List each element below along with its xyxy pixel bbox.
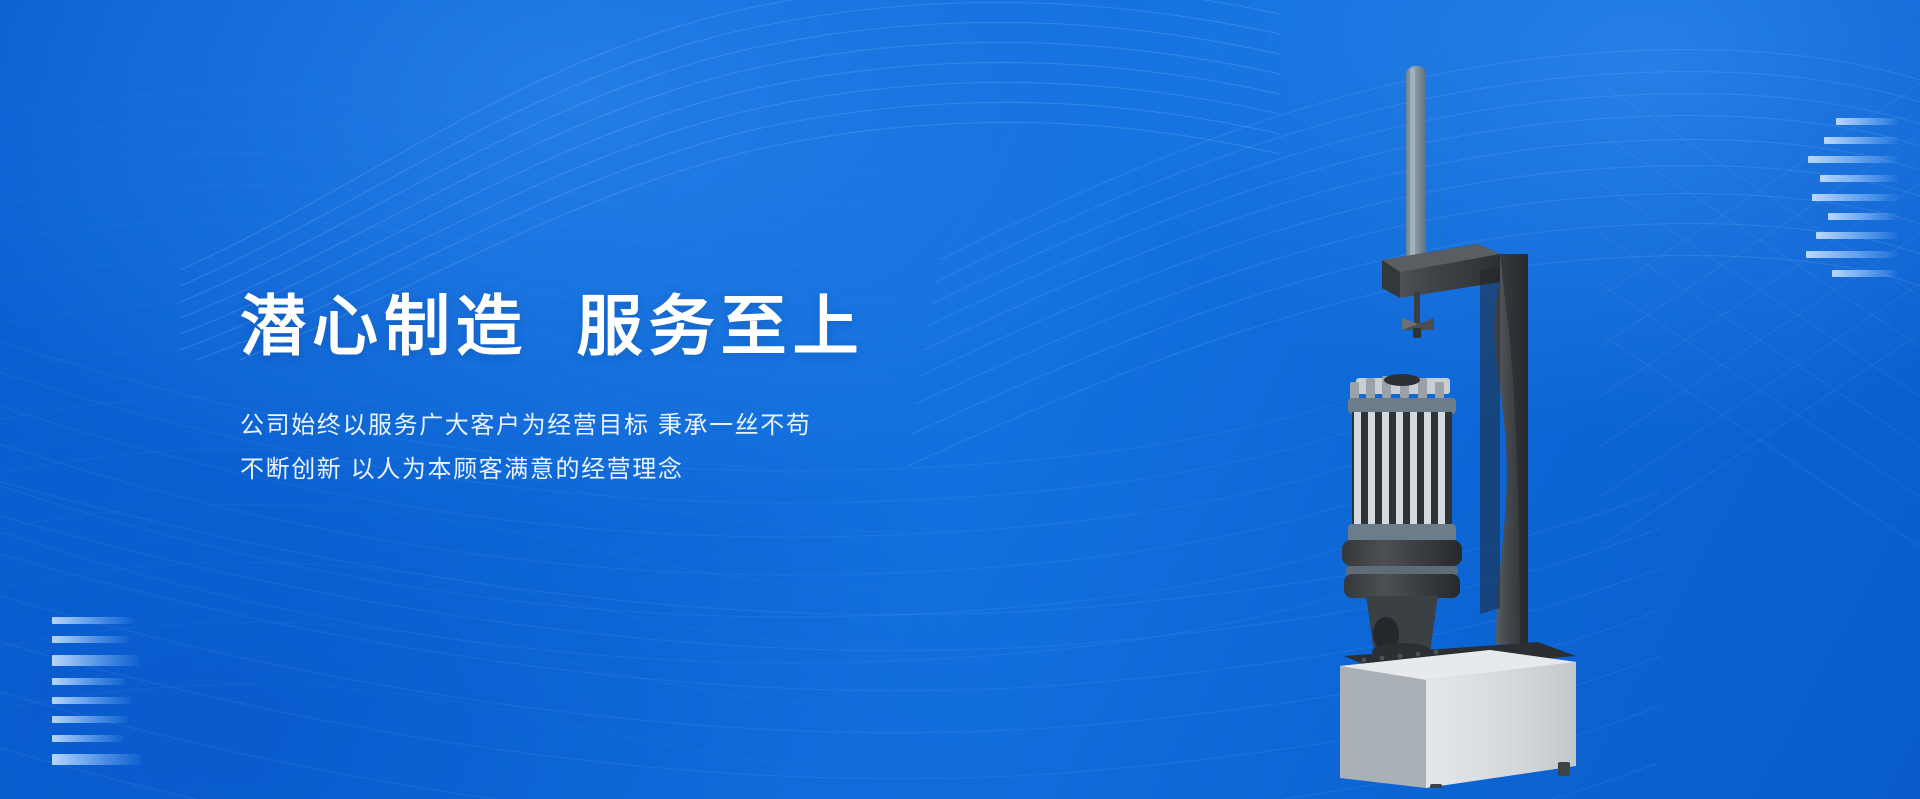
decor-bar: [52, 655, 140, 666]
machine-support-post: [1480, 254, 1528, 644]
hero-subtitle-line-1: 公司始终以服务广大客户为经营目标 秉承一丝不苟: [240, 404, 1020, 448]
gradient-bar-stack-right: [1802, 118, 1898, 289]
decor-bar: [52, 617, 134, 624]
decor-bar: [52, 735, 124, 742]
decor-bar: [52, 678, 126, 685]
decor-bar: [1836, 118, 1898, 125]
machine-cabinet: [1340, 650, 1576, 788]
hero-banner: 潜心制造 服务至上 公司始终以服务广大客户为经营目标 秉承一丝不苟 不断创新 以…: [0, 0, 1920, 799]
machine-vertical-ram: [1406, 66, 1426, 276]
gradient-bar-stack-left: [52, 617, 148, 777]
decor-bar: [52, 716, 128, 723]
hero-copy-block: 潜心制造 服务至上 公司始终以服务广大客户为经营目标 秉承一丝不苟 不断创新 以…: [240, 290, 1020, 493]
decor-bar: [1808, 156, 1898, 163]
decor-bar: [1832, 270, 1898, 277]
machine-specimen-drum: [1342, 374, 1462, 661]
decor-bar: [1824, 137, 1898, 144]
hero-headline: 潜心制造 服务至上: [240, 290, 1020, 364]
hero-subtitle: 公司始终以服务广大客户为经营目标 秉承一丝不苟 不断创新 以人为本顾客满意的经营…: [240, 404, 1020, 493]
decor-bar: [1806, 251, 1898, 258]
decor-bar: [52, 636, 130, 643]
hero-subtitle-line-2: 不断创新 以人为本顾客满意的经营理念: [240, 448, 1020, 492]
decor-bar: [1816, 232, 1898, 239]
decor-bar: [1812, 194, 1898, 201]
decor-bar: [1820, 175, 1898, 182]
industrial-testing-machine-image: [1330, 48, 1650, 788]
decor-bar: [52, 697, 132, 704]
decor-bar: [1828, 213, 1898, 220]
decor-bar: [52, 754, 142, 765]
